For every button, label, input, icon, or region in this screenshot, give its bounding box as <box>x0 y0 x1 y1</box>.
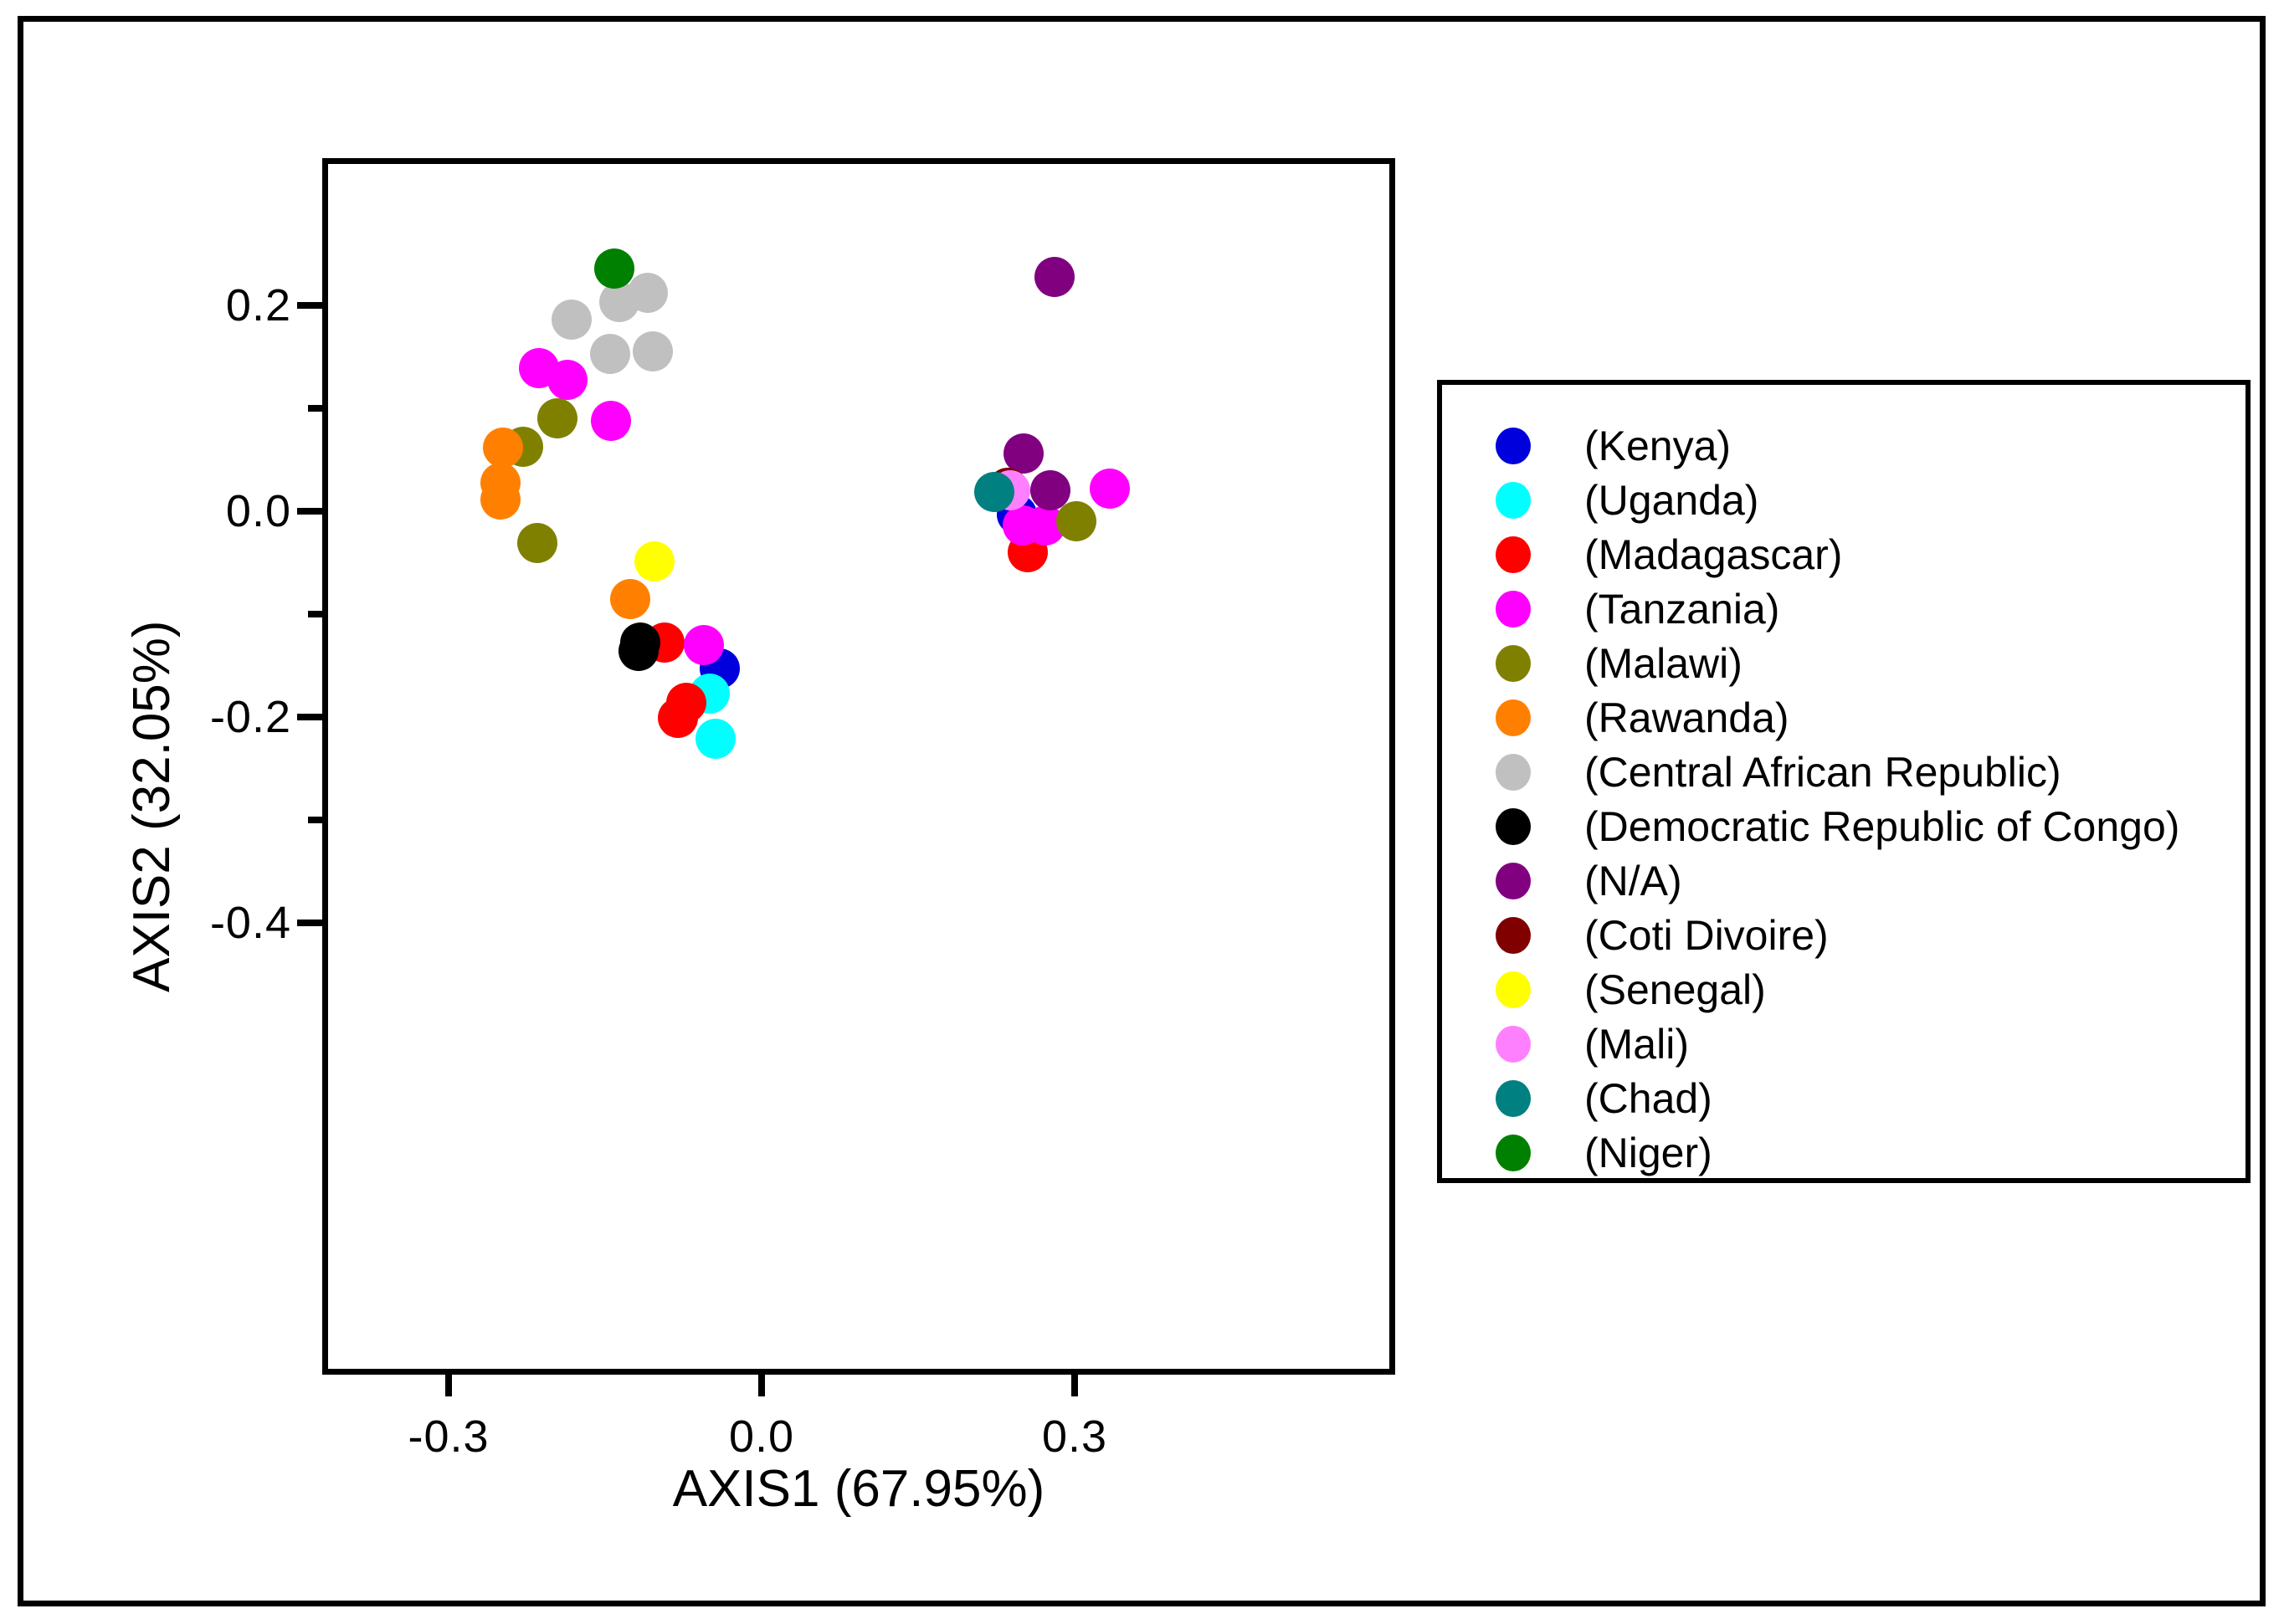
legend-swatch-cell <box>1442 428 1584 464</box>
x-tick-label-1: 0.0 <box>729 1411 794 1463</box>
legend-item[interactable]: (Tanzania) <box>1442 581 2246 636</box>
legend-marker-icon <box>1496 699 1531 736</box>
legend-marker-icon <box>1496 1080 1531 1117</box>
legend-item[interactable]: (N/A) <box>1442 853 2246 908</box>
legend-swatch-cell <box>1442 754 1584 791</box>
y-tick-label-0: 0.2 <box>182 279 291 331</box>
scatter-point <box>1030 470 1070 510</box>
legend-swatch-cell <box>1442 536 1584 573</box>
legend-swatch-cell <box>1442 1135 1584 1171</box>
legend-item-label: (Niger) <box>1584 1129 1712 1177</box>
plot-panel <box>322 158 1395 1375</box>
legend-marker-icon <box>1496 1026 1531 1063</box>
y-tick-major-0 <box>297 302 322 309</box>
legend-item-label: (Central African Republic) <box>1584 748 2061 797</box>
legend-item-label: (Democratic Republic of Congo) <box>1584 802 2179 851</box>
y-tick-label-3: -0.4 <box>157 897 291 949</box>
legend-item[interactable]: (Kenya) <box>1442 418 2246 473</box>
y-tick-label-1: 0.0 <box>182 485 291 537</box>
scatter-point <box>1090 469 1130 509</box>
y-tick-major-2 <box>297 714 322 720</box>
scatter-point <box>628 273 668 313</box>
legend-item-label: (Madagascar) <box>1584 530 1842 579</box>
legend-item-label: (Tanzania) <box>1584 585 1779 633</box>
legend-marker-icon <box>1496 428 1531 464</box>
scatter-point <box>695 719 736 759</box>
legend-item-label: (N/A) <box>1584 857 1682 905</box>
legend-marker-icon <box>1496 536 1531 573</box>
legend-item-label: (Rawanda) <box>1584 694 1789 742</box>
legend-item[interactable]: (Niger) <box>1442 1125 2246 1180</box>
legend-item[interactable]: (Chad) <box>1442 1071 2246 1125</box>
y-tick-minor-1 <box>308 611 322 617</box>
legend-item[interactable]: (Senegal) <box>1442 962 2246 1017</box>
legend-swatch-cell <box>1442 591 1584 628</box>
legend-swatch-cell <box>1442 482 1584 519</box>
legend-marker-icon <box>1496 863 1531 899</box>
y-tick-major-3 <box>297 920 322 926</box>
y-tick-major-1 <box>297 508 322 515</box>
scatter-point <box>547 360 588 400</box>
scatter-point <box>591 401 631 441</box>
y-tick-minor-2 <box>308 817 322 823</box>
scatter-point <box>1034 257 1075 297</box>
scatter-point <box>552 300 592 340</box>
legend-swatch-cell <box>1442 863 1584 899</box>
legend-item-label: (Malawi) <box>1584 639 1743 688</box>
scatter-point <box>634 541 675 581</box>
legend-item-label: (Coti Divoire) <box>1584 911 1829 960</box>
x-tick-major-2 <box>1071 1371 1078 1396</box>
x-tick-major-0 <box>445 1371 452 1396</box>
legend-item-label: (Mali) <box>1584 1020 1689 1068</box>
legend-swatch-cell <box>1442 971 1584 1008</box>
outer-frame: AXIS2 (32.05%) 0.2 0.0 -0.2 -0.4 -0.3 0.… <box>18 16 2266 1606</box>
legend-swatch-cell <box>1442 808 1584 845</box>
legend-item-label: (Kenya) <box>1584 422 1731 470</box>
legend-marker-icon <box>1496 754 1531 791</box>
x-tick-label-0: -0.3 <box>408 1411 489 1463</box>
legend-item[interactable]: (Democratic Republic of Congo) <box>1442 799 2246 853</box>
scatter-point <box>684 625 724 665</box>
scatter-point <box>537 398 577 438</box>
legend-swatch-cell <box>1442 699 1584 736</box>
scatter-point <box>590 334 630 374</box>
scatter-point <box>480 479 521 520</box>
legend-swatch-cell <box>1442 645 1584 682</box>
legend-item[interactable]: (Coti Divoire) <box>1442 908 2246 962</box>
legend-swatch-cell <box>1442 1026 1584 1063</box>
legend-item-label: (Uganda) <box>1584 476 1758 525</box>
scatter-point <box>483 428 523 468</box>
scatter-point <box>618 631 659 671</box>
y-axis-title-container: AXIS2 (32.05%) <box>122 992 131 1001</box>
legend-item-list: (Kenya)(Uganda)(Madagascar)(Tanzania)(Ma… <box>1442 418 2246 1180</box>
legend-item[interactable]: (Mali) <box>1442 1017 2246 1071</box>
legend-item[interactable]: (Rawanda) <box>1442 690 2246 745</box>
y-tick-label-2: -0.2 <box>157 691 291 743</box>
legend-swatch-cell <box>1442 917 1584 954</box>
scatter-point <box>594 248 634 289</box>
x-tick-major-1 <box>758 1371 765 1396</box>
legend-marker-icon <box>1496 591 1531 628</box>
scatter-point <box>974 472 1014 512</box>
legend-swatch-cell <box>1442 1080 1584 1117</box>
scatter-point <box>633 331 673 371</box>
x-tick-label-2: 0.3 <box>1042 1411 1107 1463</box>
legend-item[interactable]: (Central African Republic) <box>1442 745 2246 799</box>
legend-item-label: (Chad) <box>1584 1074 1712 1123</box>
legend-item[interactable]: (Madagascar) <box>1442 527 2246 581</box>
scatter-point <box>517 523 557 563</box>
legend-item[interactable]: (Malawi) <box>1442 636 2246 690</box>
legend-marker-icon <box>1496 482 1531 519</box>
legend-item-label: (Senegal) <box>1584 966 1766 1014</box>
legend-item[interactable]: (Uganda) <box>1442 473 2246 527</box>
legend-marker-icon <box>1496 1135 1531 1171</box>
scatter-point <box>1056 501 1096 541</box>
x-axis-title: AXIS1 (67.95%) <box>322 1459 1395 1519</box>
scatter-points-layer <box>328 164 1389 1369</box>
figure-root: AXIS2 (32.05%) 0.2 0.0 -0.2 -0.4 -0.3 0.… <box>0 0 2284 1624</box>
y-tick-minor-0 <box>308 405 322 412</box>
legend-marker-icon <box>1496 645 1531 682</box>
legend-marker-icon <box>1496 808 1531 845</box>
scatter-point <box>658 698 698 738</box>
legend-marker-icon <box>1496 971 1531 1008</box>
legend-marker-icon <box>1496 917 1531 954</box>
scatter-point <box>610 579 650 619</box>
legend: (Kenya)(Uganda)(Madagascar)(Tanzania)(Ma… <box>1437 380 2251 1183</box>
